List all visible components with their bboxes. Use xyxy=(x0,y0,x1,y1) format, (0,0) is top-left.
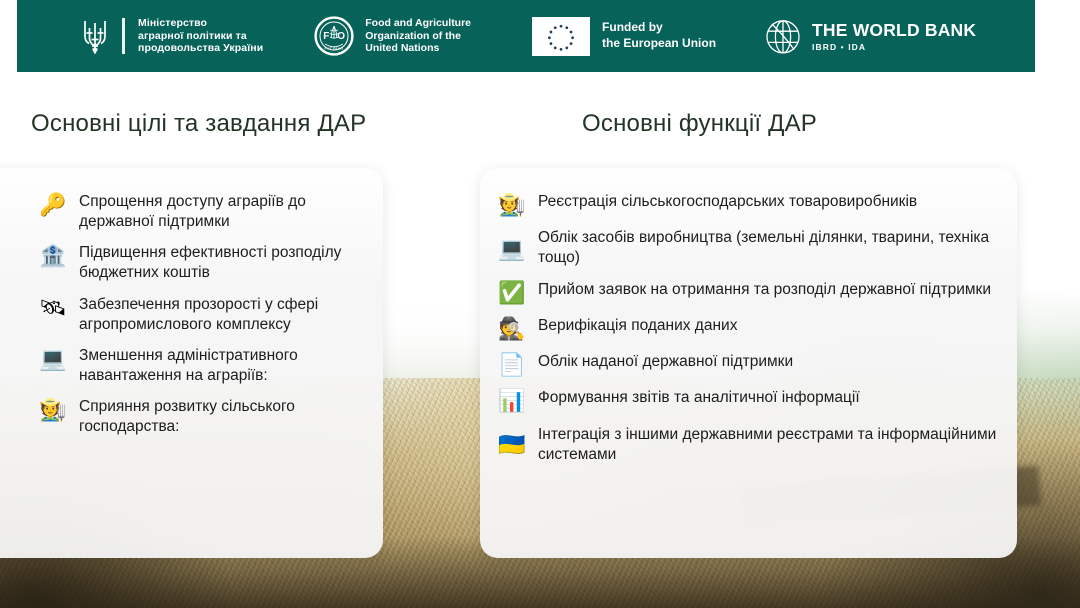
list-item-label: Облік засобів виробництва (земельні діля… xyxy=(538,228,997,268)
laptop-icon: 💻 xyxy=(38,346,68,371)
list-item-label: Інтеграція з іншими державними реєстрами… xyxy=(538,425,997,465)
detective-icon: 🕵 xyxy=(497,316,527,341)
list-item: 📄 Облік наданої державної підтримки xyxy=(497,352,997,377)
left-column-list: 🔑 Спрощення доступу аграріїв до державно… xyxy=(38,192,368,448)
logo-eu-line-2: the European Union xyxy=(602,36,716,52)
right-column-list: 🧑‍🌾 Реєстрація сільськогосподарських тов… xyxy=(497,192,997,476)
list-item-label: Сприяння розвитку сільського господарств… xyxy=(79,397,368,437)
svg-text:FIAT PANIS: FIAT PANIS xyxy=(325,47,344,51)
slide-root: Міністерство аграрної політики та продов… xyxy=(0,0,1080,608)
satellite-icon: 🛰 xyxy=(38,295,68,320)
logo-eu-text: Funded by the European Union xyxy=(602,20,716,51)
list-item: 💻 Облік засобів виробництва (земельні ді… xyxy=(497,228,997,268)
list-item: ✅ Прийом заявок на отримання та розподіл… xyxy=(497,280,997,305)
logo-ministry-line-3: продовольства України xyxy=(138,42,263,55)
list-item-label: Облік наданої державної підтримки xyxy=(538,352,793,372)
logo-fao-line-1: Food and Agriculture xyxy=(365,17,471,30)
logo-ministry-text: Міністерство аграрної політики та продов… xyxy=(138,17,263,55)
logo-ministry-of-agrarian-policy: Міністерство аграрної політики та продов… xyxy=(80,16,263,56)
logo-ministry-line-1: Міністерство xyxy=(138,17,263,30)
partner-logo-header: Міністерство аграрної політики та продов… xyxy=(17,0,1035,72)
list-item-label: Формування звітів та аналітичної інформа… xyxy=(538,388,860,408)
list-item-label: Прийом заявок на отримання та розподіл д… xyxy=(538,280,991,300)
logo-divider xyxy=(122,18,125,54)
list-item: 🕵 Верифікація поданих даних xyxy=(497,316,997,341)
logo-world-bank-text: THE WORLD BANK IBRD • IDA xyxy=(812,20,976,52)
logo-fao: F O FIAT PANIS Food and Agriculture Orga… xyxy=(314,16,471,56)
list-item: 🔑 Спрощення доступу аграріїв до державно… xyxy=(38,192,368,232)
world-bank-globe-icon xyxy=(763,16,803,56)
svg-text:O: O xyxy=(338,31,346,42)
logo-european-union: Funded by the European Union xyxy=(532,17,716,56)
list-item: 💻 Зменшення адміністративного навантажен… xyxy=(38,346,368,386)
bar-chart-icon: 📊 xyxy=(497,388,527,413)
logo-world-bank-title: THE WORLD BANK xyxy=(812,20,976,41)
logo-ministry-line-2: аграрної політики та xyxy=(138,30,263,43)
key-icon: 🔑 xyxy=(38,192,68,217)
right-column-title: Основні функції ДАР xyxy=(582,110,817,138)
farmer-icon: 🧑‍🌾 xyxy=(497,192,527,217)
list-item: 🏦 Підвищення ефективності розподілу бюдж… xyxy=(38,243,368,283)
european-union-flag-icon xyxy=(532,17,590,56)
list-item-label: Спрощення доступу аграріїв до державної … xyxy=(79,192,368,232)
laptop-icon: 💻 xyxy=(497,236,527,261)
ukraine-trident-icon xyxy=(80,16,110,56)
logo-world-bank: THE WORLD BANK IBRD • IDA xyxy=(763,16,976,56)
list-item: 🧑‍🌾 Реєстрація сільськогосподарських тов… xyxy=(497,192,997,217)
farmer-icon: 🧑‍🌾 xyxy=(38,397,68,422)
list-item: 📊 Формування звітів та аналітичної інфор… xyxy=(497,388,997,413)
list-item-label: Реєстрація сільськогосподарських товаров… xyxy=(538,192,917,212)
logo-fao-line-2: Organization of the xyxy=(365,30,471,43)
page-icon: 📄 xyxy=(497,352,527,377)
list-item-label: Забезпечення прозорості у сфері агропром… xyxy=(79,295,368,335)
left-column-title: Основні цілі та завдання ДАР xyxy=(31,110,366,138)
list-item: 🛰 Забезпечення прозорості у сфері агропр… xyxy=(38,295,368,335)
list-item-label: Верифікація поданих даних xyxy=(538,316,737,336)
svg-text:F: F xyxy=(323,31,329,42)
logo-fao-text: Food and Agriculture Organization of the… xyxy=(365,17,471,55)
logo-world-bank-subtitle: IBRD • IDA xyxy=(812,42,976,52)
logo-fao-line-3: United Nations xyxy=(365,42,471,55)
ukraine-flag-icon: 🇺🇦 xyxy=(497,432,527,457)
check-mark-icon: ✅ xyxy=(497,280,527,305)
list-item-label: Зменшення адміністративного навантаження… xyxy=(79,346,368,386)
logo-eu-line-1: Funded by xyxy=(602,20,716,36)
list-item: 🧑‍🌾 Сприяння розвитку сільського господа… xyxy=(38,397,368,437)
bank-icon: 🏦 xyxy=(38,243,68,268)
list-item: 🇺🇦 Інтеграція з іншими державними реєстр… xyxy=(497,425,997,465)
list-item-label: Підвищення ефективності розподілу бюджет… xyxy=(79,243,368,283)
fao-emblem-icon: F O FIAT PANIS xyxy=(314,16,354,56)
